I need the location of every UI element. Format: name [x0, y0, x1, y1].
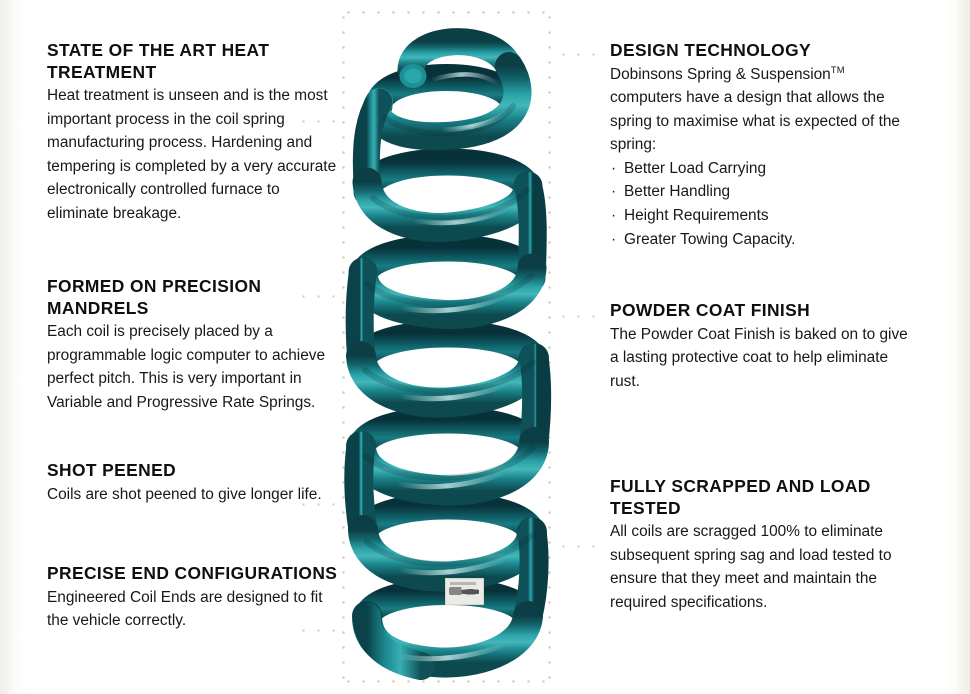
feature-precise-end-configurations: PRECISE END CONFIGURATIONS Engineered Co…: [47, 563, 339, 633]
feature-body: All coils are scragged 100% to eliminate…: [610, 520, 910, 614]
bullet-dot-icon: ·: [611, 204, 616, 228]
feature-design-technology: DESIGN TECHNOLOGY Dobinsons Spring & Sus…: [610, 40, 910, 251]
feature-heading: FORMED ON PRECISION MANDRELS: [47, 276, 337, 319]
feature-heading: DESIGN TECHNOLOGY: [610, 40, 910, 62]
feature-heading: FULLY SCRAPPED AND LOAD TESTED: [610, 476, 910, 519]
feature-heat-treatment: STATE OF THE ART HEAT TREATMENT Heat tre…: [47, 40, 337, 226]
feature-body-part-1: Dobinsons Spring & Suspension: [610, 66, 831, 83]
page-edge-shade-left: [0, 0, 14, 694]
list-item-label: Greater Towing Capacity.: [624, 231, 795, 248]
list-item: ·Better Load Carrying: [610, 157, 910, 181]
feature-body: Engineered Coil Ends are designed to fit…: [47, 586, 339, 633]
page-edge-shade-right: [956, 0, 970, 694]
list-item-label: Better Load Carrying: [624, 160, 766, 177]
list-item: ·Greater Towing Capacity.: [610, 228, 910, 252]
feature-powder-coat-finish: POWDER COAT FINISH The Powder Coat Finis…: [610, 300, 910, 393]
feature-heading: POWDER COAT FINISH: [610, 300, 910, 322]
feature-heading: PRECISE END CONFIGURATIONS: [47, 563, 339, 585]
infographic-page: STATE OF THE ART HEAT TREATMENT Heat tre…: [0, 0, 970, 694]
bullet-dot-icon: ·: [611, 180, 616, 204]
design-technology-benefits-list: ·Better Load Carrying ·Better Handling ·…: [610, 157, 910, 251]
feature-body-part-2: computers have a design that allows the …: [610, 89, 900, 153]
list-item: ·Height Requirements: [610, 204, 910, 228]
list-item-label: Better Handling: [624, 183, 730, 200]
label-logo-mark: [449, 587, 479, 595]
feature-fully-scrapped-and-load-tested: FULLY SCRAPPED AND LOAD TESTED All coils…: [610, 476, 910, 614]
list-item-label: Height Requirements: [624, 207, 769, 224]
feature-body: The Powder Coat Finish is baked on to gi…: [610, 323, 910, 394]
label-line: [450, 582, 476, 585]
list-item: ·Better Handling: [610, 180, 910, 204]
feature-body: Heat treatment is unseen and is the most…: [47, 84, 337, 226]
leader-trail-load-tested: [556, 544, 606, 549]
feature-body: Coils are shot peened to give longer lif…: [47, 483, 337, 507]
feature-body: Dobinsons Spring & SuspensionTM computer…: [610, 63, 910, 157]
feature-body: Each coil is precisely placed by a progr…: [47, 320, 337, 414]
leader-trail-design-technology: [556, 52, 606, 57]
leader-trail-powder-coat: [556, 314, 606, 319]
bullet-dot-icon: ·: [611, 157, 616, 181]
coil-spring-image: [341, 10, 552, 684]
spring-product-label: [445, 578, 484, 605]
feature-heading: SHOT PEENED: [47, 460, 337, 482]
trademark-symbol: TM: [831, 64, 845, 75]
feature-precision-mandrels: FORMED ON PRECISION MANDRELS Each coil i…: [47, 276, 337, 414]
feature-shot-peened: SHOT PEENED Coils are shot peened to giv…: [47, 460, 337, 506]
feature-heading: STATE OF THE ART HEAT TREATMENT: [47, 40, 337, 83]
bullet-dot-icon: ·: [611, 228, 616, 252]
